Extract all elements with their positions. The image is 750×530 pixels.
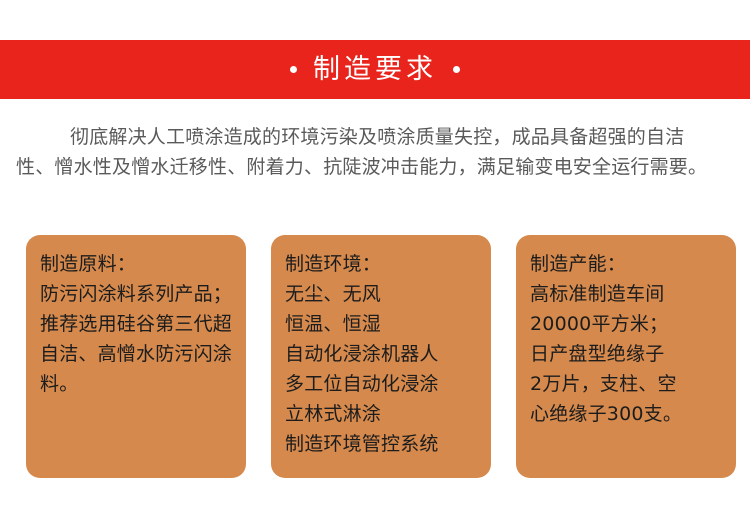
card-line: 立林式淋涂 — [285, 399, 491, 429]
info-card-production-capacity: 制造产能： 高标准制造车间 20000平方米； 日产盘型绝缘子 2万片，支柱、空… — [516, 235, 736, 478]
section-banner: 制造要求 — [0, 40, 750, 99]
card-line: 制造原料： — [40, 249, 246, 279]
bullet-dot-right-icon — [453, 66, 460, 73]
card-line: 多工位自动化浸涂 — [285, 369, 491, 399]
banner-content: 制造要求 — [290, 56, 460, 83]
card-line: 自洁、高憎水防污闪涂 — [40, 339, 246, 369]
card-line: 制造环境： — [285, 249, 491, 279]
card-line: 恒温、恒湿 — [285, 309, 491, 339]
banner-title: 制造要求 — [313, 56, 437, 83]
bullet-dot-left-icon — [290, 66, 297, 73]
card-line: 日产盘型绝缘子 — [530, 339, 736, 369]
card-line: 无尘、无风 — [285, 279, 491, 309]
manufacturing-requirements-page: 制造要求 彻底解决人工喷涂造成的环境污染及喷涂质量失控，成品具备超强的自洁 性、… — [0, 0, 750, 530]
intro-line-2: 性、憎水性及憎水迁移性、附着力、抗陡波冲击能力，满足输变电安全运行需要。 — [16, 152, 738, 182]
card-line: 制造产能： — [530, 249, 736, 279]
card-line: 自动化浸涂机器人 — [285, 339, 491, 369]
card-line: 推荐选用硅谷第三代超 — [40, 309, 246, 339]
card-line: 2万片，支柱、空 — [530, 369, 736, 399]
info-card-row: 制造原料： 防污闪涂料系列产品； 推荐选用硅谷第三代超 自洁、高憎水防污闪涂 料… — [26, 235, 736, 478]
card-line: 料。 — [40, 369, 246, 399]
info-card-raw-material: 制造原料： 防污闪涂料系列产品； 推荐选用硅谷第三代超 自洁、高憎水防污闪涂 料… — [26, 235, 246, 478]
card-line: 制造环境管控系统 — [285, 429, 491, 459]
card-line: 心绝缘子300支。 — [530, 399, 736, 429]
intro-paragraph: 彻底解决人工喷涂造成的环境污染及喷涂质量失控，成品具备超强的自洁 性、憎水性及憎… — [16, 122, 738, 182]
card-line: 高标准制造车间 — [530, 279, 736, 309]
intro-line-1: 彻底解决人工喷涂造成的环境污染及喷涂质量失控，成品具备超强的自洁 — [16, 122, 738, 152]
card-line: 20000平方米； — [530, 309, 736, 339]
info-card-manufacturing-environment: 制造环境： 无尘、无风 恒温、恒湿 自动化浸涂机器人 多工位自动化浸涂 立林式淋… — [271, 235, 491, 478]
card-line: 防污闪涂料系列产品； — [40, 279, 246, 309]
